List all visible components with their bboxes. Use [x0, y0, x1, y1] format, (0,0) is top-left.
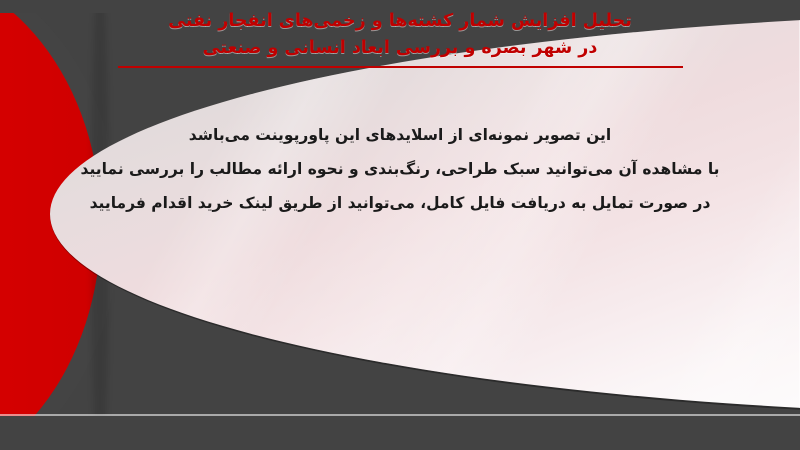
bottom-highlight-line	[0, 414, 800, 416]
slide-body: این تصویر نمونه‌ای از اسلایدهای این پاور…	[0, 118, 800, 220]
body-line-2: با مشاهده آن می‌توانید سبک طراحی، رنگ‌بن…	[0, 152, 800, 186]
body-line-3: در صورت تمایل به دریافت فایل کامل، می‌تو…	[0, 186, 800, 220]
body-line-1: این تصویر نمونه‌ای از اسلایدهای این پاور…	[0, 118, 800, 152]
presentation-slide: تحلیل افزایش شمار کشته‌ها و زخمی‌های انف…	[0, 0, 800, 450]
title-line-2: در شهر بصره و بررسی ابعاد انسانی و صنعتی	[0, 35, 800, 62]
slide-title: تحلیل افزایش شمار کشته‌ها و زخمی‌های انف…	[0, 8, 800, 68]
bottom-frame-band	[0, 416, 800, 450]
title-line-1: تحلیل افزایش شمار کشته‌ها و زخمی‌های انف…	[0, 8, 800, 35]
title-underline-rule	[118, 66, 683, 68]
